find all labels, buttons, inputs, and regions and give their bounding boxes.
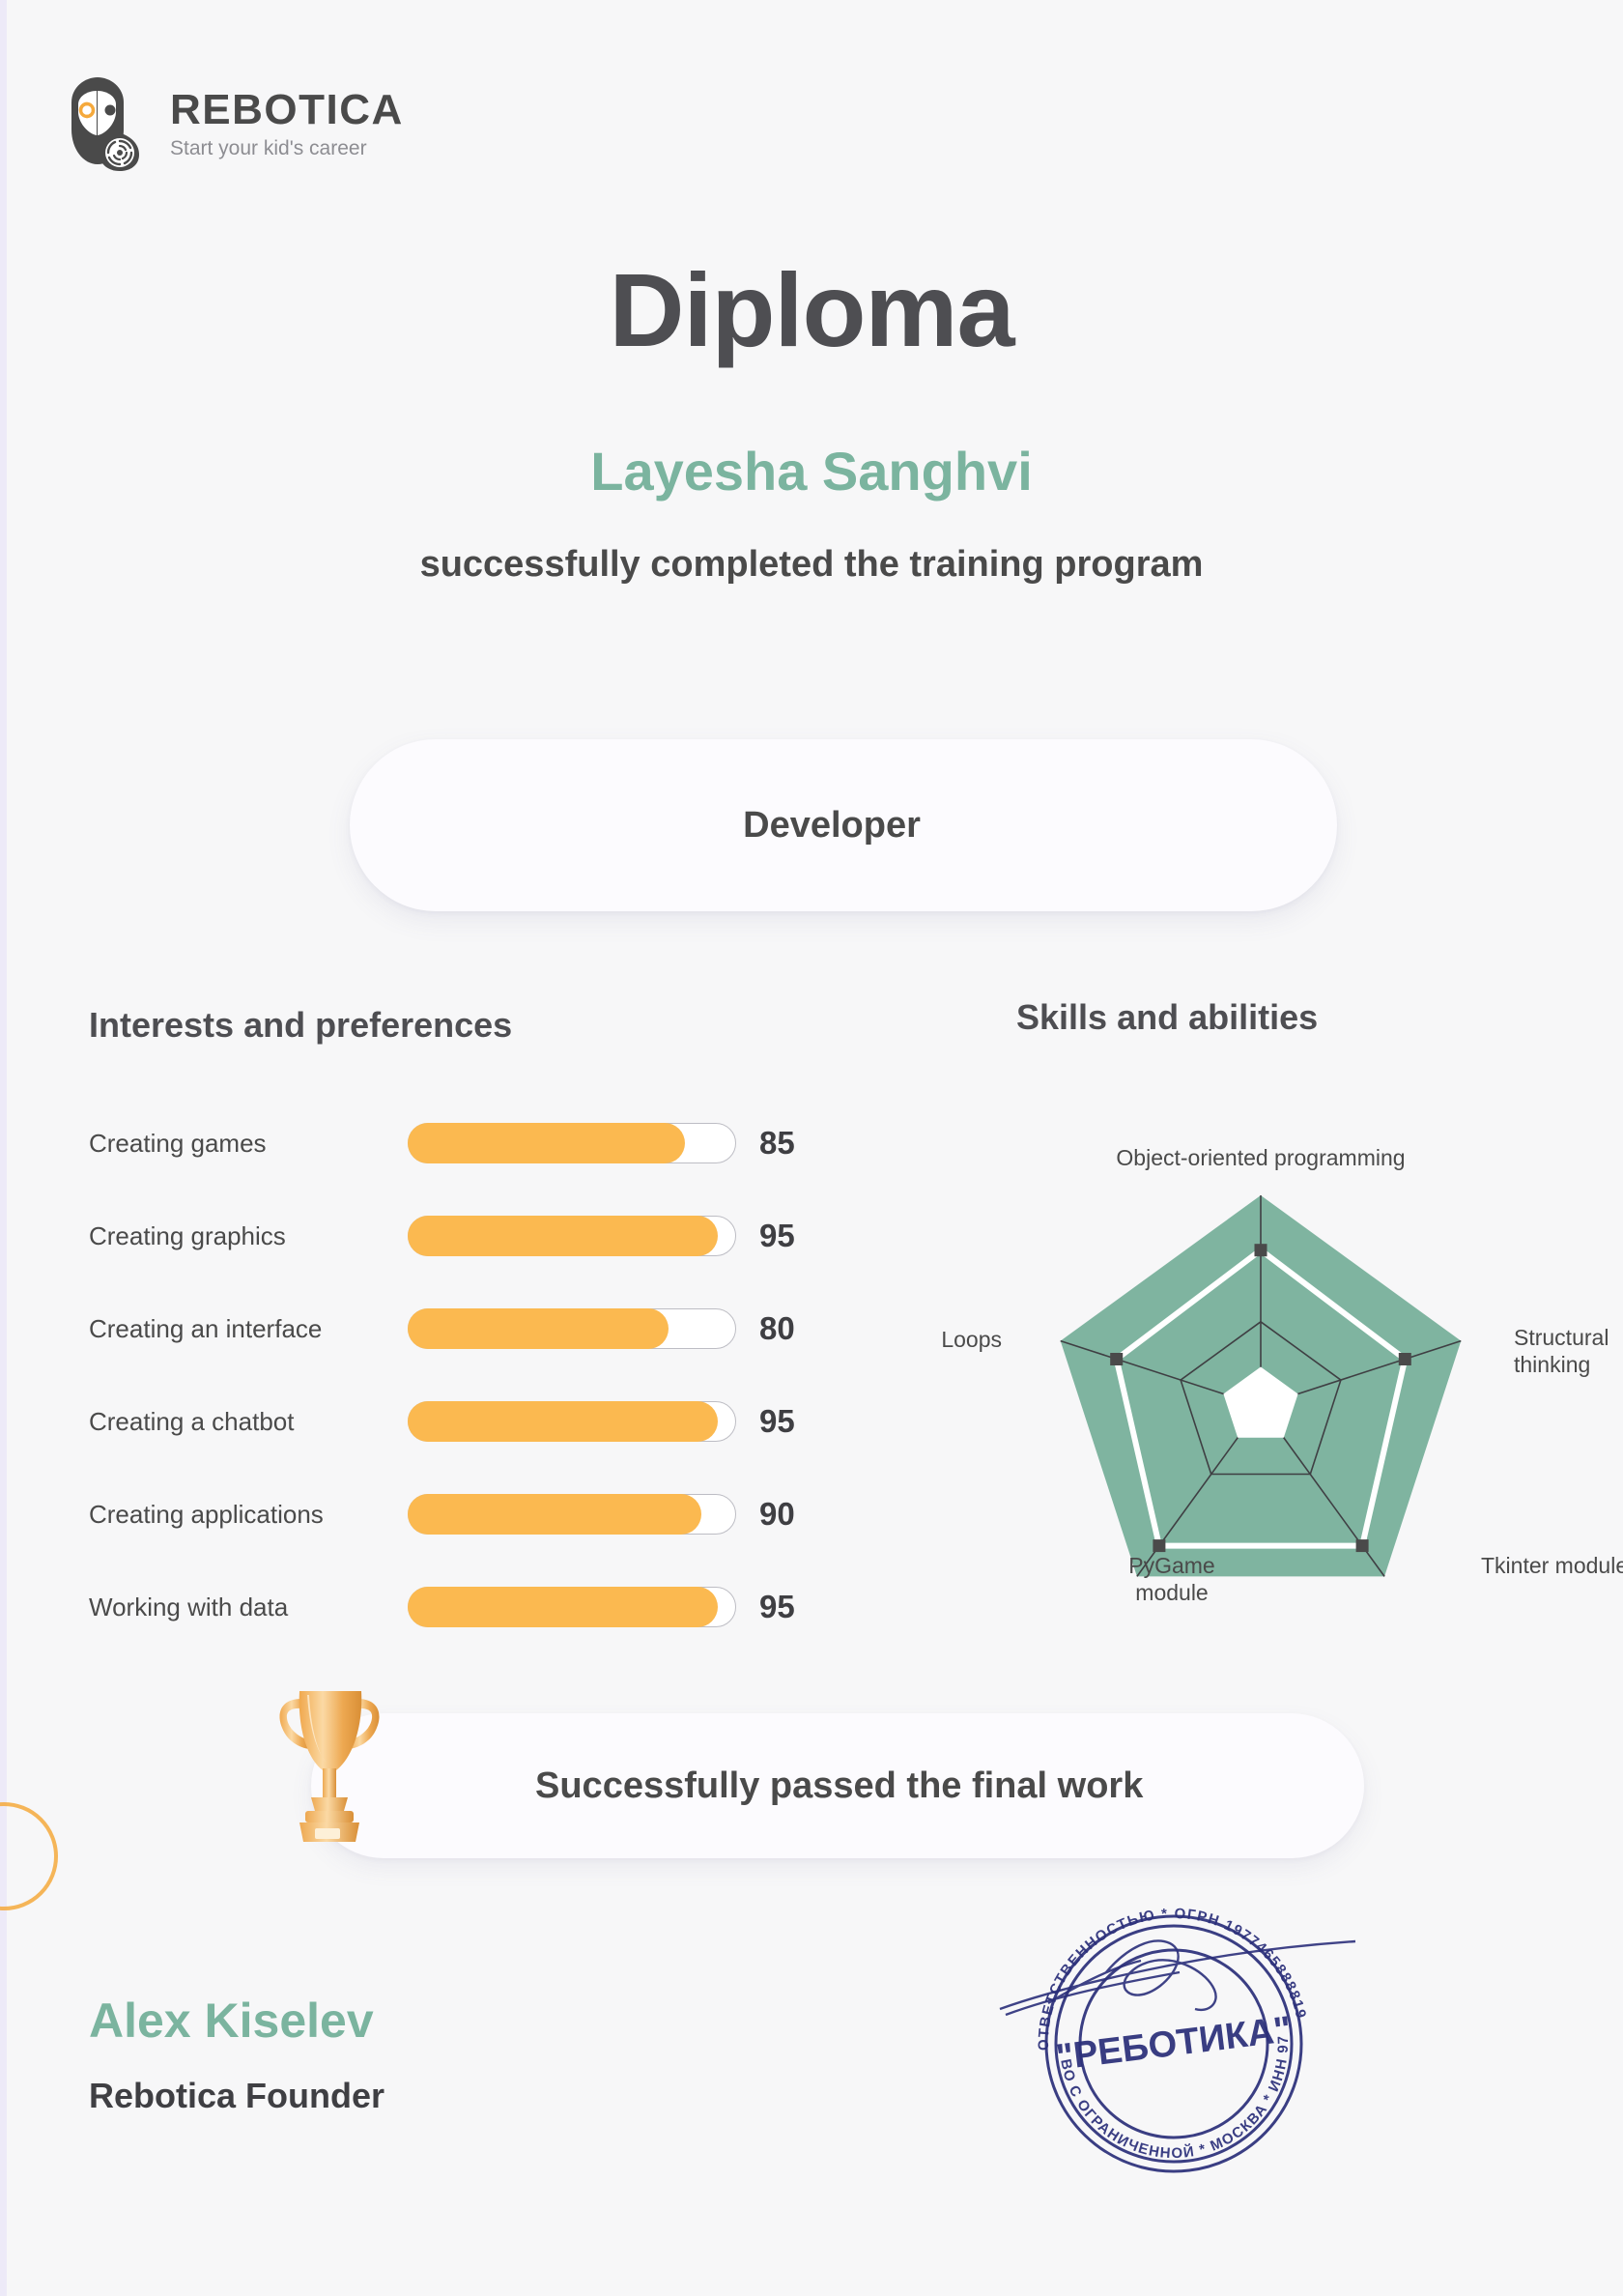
- interest-value: 95: [759, 1218, 795, 1254]
- radar-axis-label: Structural thinking: [1514, 1325, 1623, 1378]
- radar-axis-label: PyGame module: [1109, 1553, 1235, 1606]
- founder-name: Alex Kiselev: [89, 1993, 374, 2049]
- interests-list: Creating games85Creating graphics95Creat…: [89, 1102, 823, 1658]
- interest-value: 95: [759, 1589, 795, 1625]
- interest-value: 80: [759, 1310, 795, 1347]
- interest-progress-fill: [408, 1123, 685, 1163]
- interest-progress-fill: [408, 1216, 718, 1256]
- brand-text-block: REBOTICA Start your kid's career: [170, 89, 404, 158]
- role-label: Developer: [743, 805, 921, 847]
- interest-progress-track: [408, 1401, 736, 1442]
- brand-name: REBOTICA: [170, 89, 404, 131]
- interest-value: 85: [759, 1125, 795, 1162]
- interest-progress-track: [408, 1308, 736, 1349]
- brand-tagline: Start your kid's career: [170, 138, 404, 158]
- owl-icon: [66, 75, 149, 172]
- stamp-center-text: "РЕБОТИКА": [1054, 2009, 1294, 2079]
- interests-heading: Interests and preferences: [89, 1005, 823, 1046]
- interest-progress-fill: [408, 1494, 701, 1535]
- official-stamp: ОТВЕТСТВЕННОСТЬЮ * ОГРН 1977465888819 ОБ…: [990, 1889, 1357, 2179]
- diploma-page: REBOTICA Start your kid's career Diploma…: [0, 0, 1623, 2296]
- skills-heading: Skills and abilities: [1016, 997, 1318, 1038]
- final-work-text: Successfully passed the final work: [535, 1765, 1143, 1807]
- completion-text: successfully completed the training prog…: [0, 541, 1623, 588]
- interest-label: Working with data: [89, 1592, 408, 1623]
- interest-row: Creating applications90: [89, 1473, 823, 1556]
- interest-progress-track: [408, 1494, 736, 1535]
- page-title: Diploma: [0, 249, 1623, 370]
- radar-axis-label: Loops: [905, 1327, 1002, 1354]
- interest-progress-fill: [408, 1587, 718, 1627]
- interest-label: Creating an interface: [89, 1313, 408, 1345]
- radar-axis-label: Tkinter module: [1481, 1553, 1623, 1580]
- radar-data-point: [1399, 1353, 1411, 1365]
- role-card: Developer: [350, 739, 1337, 911]
- interest-label: Creating applications: [89, 1499, 408, 1531]
- interest-row: Creating graphics95: [89, 1194, 823, 1277]
- decorative-circle: [0, 1802, 58, 1910]
- trophy-icon: [272, 1681, 386, 1846]
- student-name: Layesha Sanghvi: [0, 440, 1623, 502]
- interest-row: Creating an interface80: [89, 1287, 823, 1370]
- brand-logo: REBOTICA Start your kid's career: [66, 75, 404, 172]
- interest-value: 95: [759, 1403, 795, 1440]
- radar-axis-label: Object-oriented programming: [1101, 1145, 1420, 1172]
- radar-data-point: [1110, 1353, 1123, 1365]
- radar-svg: [942, 1135, 1580, 1619]
- interest-row: Creating games85: [89, 1102, 823, 1185]
- interest-progress-fill: [408, 1401, 718, 1442]
- completion-text-line: successfully completed the training prog…: [357, 541, 1266, 588]
- interest-progress-fill: [408, 1308, 669, 1349]
- interest-value: 90: [759, 1496, 795, 1533]
- interest-progress-track: [408, 1123, 736, 1163]
- founder-role: Rebotica Founder: [89, 2076, 384, 2116]
- interest-label: Creating graphics: [89, 1220, 408, 1252]
- radar-data-point: [1153, 1539, 1165, 1552]
- interest-label: Creating a chatbot: [89, 1406, 408, 1438]
- interest-label: Creating games: [89, 1128, 408, 1160]
- skills-radar-chart: Object-oriented programmingStructural th…: [942, 1135, 1580, 1619]
- interest-progress-track: [408, 1587, 736, 1627]
- interest-row: Creating a chatbot95: [89, 1380, 823, 1463]
- radar-data-point: [1255, 1244, 1267, 1256]
- interest-row: Working with data95: [89, 1565, 823, 1649]
- final-work-banner: Successfully passed the final work: [311, 1713, 1364, 1858]
- radar-data-point: [1356, 1539, 1369, 1552]
- interest-progress-track: [408, 1216, 736, 1256]
